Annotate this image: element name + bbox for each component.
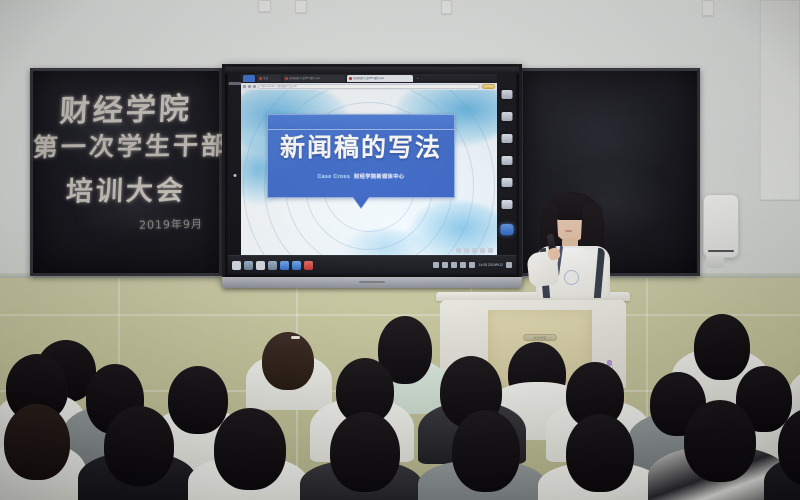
audience-head	[452, 410, 520, 492]
new-tab-button[interactable]: +	[415, 75, 422, 82]
tab-label: 新闻稿的写法PPT课件.pptx	[353, 77, 384, 80]
shield-icon[interactable]	[501, 112, 512, 121]
volume-icon[interactable]	[451, 262, 457, 268]
camera-icon[interactable]	[501, 178, 512, 187]
url-input[interactable]: https://wenku.../新闻稿的写法.pptx	[258, 84, 480, 89]
slide-title: 新闻稿的写法	[268, 135, 454, 160]
jacket-emblem	[564, 270, 579, 285]
slide-subtitle: Case Cross财经学院新媒体中心	[268, 173, 454, 180]
network-icon[interactable]	[442, 262, 448, 268]
user-icon[interactable]	[500, 224, 513, 235]
keyboard-icon[interactable]	[469, 262, 475, 268]
speaker-bracket	[706, 256, 724, 268]
browser-window[interactable]: 主页 新闻稿的写法PPT课件.pptx 新闻稿的写法PPT课件.pptx +	[241, 74, 497, 255]
smart-board-display[interactable]: 主页 新闻稿的写法PPT课件.pptx 新闻稿的写法PPT课件.pptx +	[222, 64, 522, 280]
window-icon[interactable]	[501, 156, 512, 165]
bubble-tail	[353, 197, 369, 208]
audience-head	[262, 332, 314, 390]
profile-button[interactable]	[482, 84, 495, 89]
ceiling-plate	[258, 0, 271, 12]
presentation-slide: 新闻稿的写法 Case Cross财经学院新媒体中心	[241, 90, 497, 255]
chalk-line-1: 财经学院	[32, 83, 220, 131]
screen-icon[interactable]	[501, 200, 512, 209]
left-rail[interactable]	[228, 74, 241, 255]
browser-tab[interactable]: 新闻稿的写法PPT课件.pptx	[283, 75, 345, 82]
back-icon[interactable]	[243, 85, 246, 88]
chalk-line-3: 培训大会	[32, 168, 220, 209]
slide-title-bubble: 新闻稿的写法 Case Cross财经学院新媒体中心	[267, 114, 455, 198]
zoom-in-icon[interactable]	[480, 248, 485, 253]
url-text: https://wenku.../新闻稿的写法.pptx	[261, 85, 297, 88]
app-icon[interactable]	[304, 261, 313, 270]
fullscreen-icon[interactable]	[488, 248, 493, 253]
audience-head	[4, 404, 70, 480]
wall-corner-panel	[760, 0, 800, 200]
tab-label: 主页	[263, 77, 268, 80]
slide-controls[interactable]	[456, 248, 493, 253]
slide-subtitle-cn: 财经学院新媒体中心	[354, 174, 404, 180]
ie-icon[interactable]	[292, 261, 301, 270]
audience-head	[694, 314, 750, 380]
audience-head	[104, 406, 174, 486]
taskbar-clock[interactable]: 14:08 2019/9/12	[478, 263, 503, 267]
slide-subtitle-en: Case Cross	[318, 174, 351, 180]
wall-mounted-speaker	[703, 194, 739, 258]
audience-head	[566, 414, 634, 492]
forward-icon[interactable]	[248, 85, 251, 88]
chalk-line-2: 第一次学生干部	[32, 126, 220, 164]
tab-label: 新闻稿的写法PPT课件.pptx	[289, 77, 320, 80]
lecture-hall-photo: 财经学院 第一次学生干部 培训大会 2019年9月	[0, 0, 800, 500]
prev-slide-icon[interactable]	[456, 248, 461, 253]
browser-address-bar[interactable]: https://wenku.../新闻稿的写法.pptx	[241, 83, 497, 90]
display-chin	[222, 277, 522, 288]
hair-clip	[291, 336, 300, 339]
ime-icon[interactable]	[506, 262, 512, 268]
student-presenter	[526, 186, 618, 298]
jacket-stripe	[594, 248, 605, 298]
browser-icon[interactable]	[280, 261, 289, 270]
audience-head	[168, 366, 228, 434]
audience-head	[684, 400, 756, 482]
windows-taskbar[interactable]: 14:08 2019/9/12	[228, 255, 516, 274]
browser-tab-pinned[interactable]	[243, 75, 255, 82]
left-blackboard: 财经学院 第一次学生干部 培训大会 2019年9月	[30, 68, 222, 276]
files-icon[interactable]	[256, 261, 265, 270]
ceiling-plate	[295, 0, 307, 13]
capture-icon[interactable]	[501, 134, 512, 143]
reload-icon[interactable]	[253, 85, 256, 88]
favicon	[285, 77, 288, 80]
pen-icon[interactable]	[501, 90, 512, 99]
favicon	[259, 77, 262, 80]
chevron-up-icon[interactable]	[433, 262, 439, 268]
bezel	[225, 67, 519, 74]
ceiling-plate	[702, 0, 714, 16]
browser-tab-active[interactable]: 新闻稿的写法PPT课件.pptx	[347, 75, 413, 82]
seated-audience	[0, 320, 800, 500]
ceiling-plate	[441, 0, 452, 14]
teams-icon[interactable]	[268, 261, 277, 270]
browser-tab[interactable]: 主页	[257, 75, 281, 82]
audience-head	[214, 408, 286, 490]
pen-tray-icon[interactable]	[460, 262, 466, 268]
bubble-top-bar	[268, 115, 454, 130]
audience-head	[330, 412, 400, 492]
zoom-out-icon[interactable]	[472, 248, 477, 253]
browser-tab-strip[interactable]: 主页 新闻稿的写法PPT课件.pptx 新闻稿的写法PPT课件.pptx +	[241, 74, 497, 83]
smartboard-tools[interactable]	[497, 74, 516, 255]
start-icon[interactable]	[232, 261, 241, 270]
settings-icon[interactable]	[244, 261, 253, 270]
mouth	[565, 230, 572, 232]
chalk-date: 2019年9月	[33, 215, 219, 234]
next-slide-icon[interactable]	[464, 248, 469, 253]
favicon	[349, 77, 352, 80]
